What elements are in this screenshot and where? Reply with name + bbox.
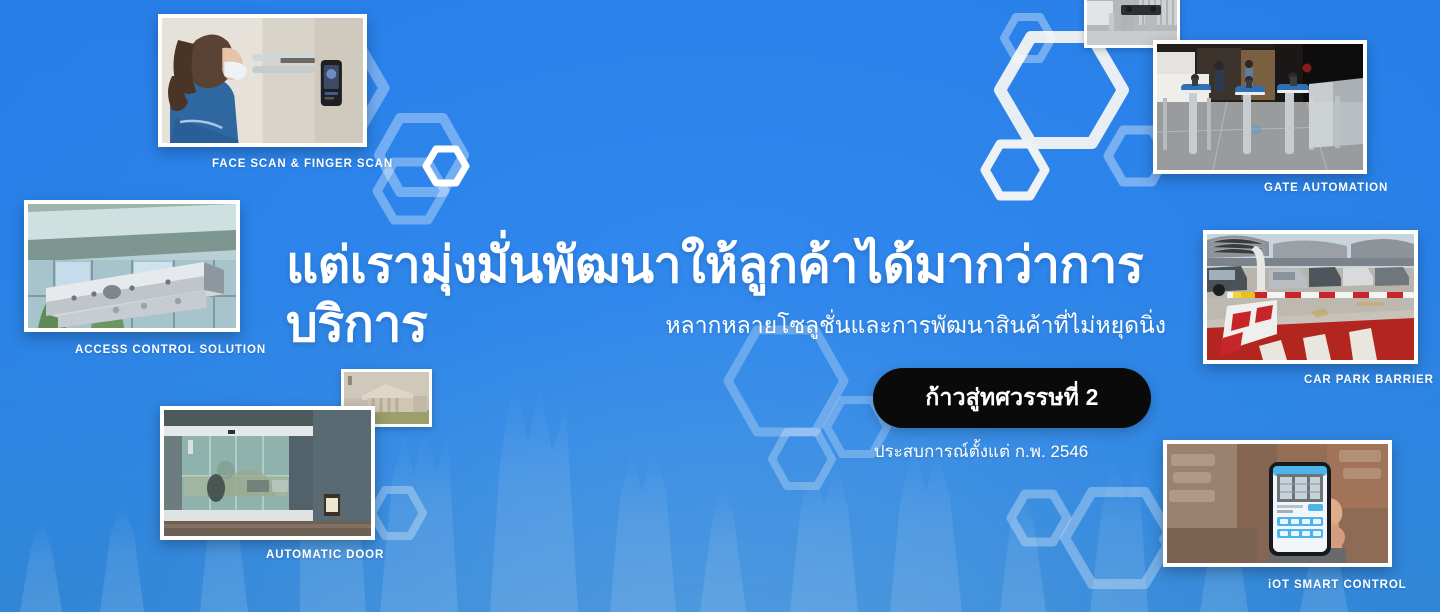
hero-banner: FACE SCAN & FINGER SCAN xyxy=(0,0,1440,612)
hexagon-outline-right-1-white xyxy=(1000,37,1123,143)
hexagon-outline-center-5 xyxy=(372,490,423,536)
photo-access-control xyxy=(28,204,236,328)
photo-gate-automation xyxy=(1157,44,1363,170)
caption-access-control: ACCESS CONTROL SOLUTION xyxy=(75,344,266,356)
photo-car-park-barrier xyxy=(1207,234,1414,360)
decade-badge-label: ก้าวสู่ทศวรรษที่ 2 xyxy=(925,380,1098,416)
photo-frame xyxy=(158,14,367,147)
card-car-park-barrier[interactable] xyxy=(1203,230,1418,364)
decade-badge[interactable]: ก้าวสู่ทศวรรษที่ 2 xyxy=(873,368,1151,428)
card-iot-smart-control[interactable] xyxy=(1163,440,1392,567)
photo-frame xyxy=(24,200,240,332)
photo-turnstile-thumb xyxy=(1087,0,1177,45)
card-automatic-door[interactable] xyxy=(160,406,375,540)
card-face-scan[interactable] xyxy=(158,14,367,147)
card-access-control[interactable] xyxy=(24,200,240,332)
hexagon-outline-right-6 xyxy=(1011,494,1067,542)
photo-iot-smart-control xyxy=(1167,444,1388,563)
hexagon-outline-right-5 xyxy=(1065,492,1172,584)
subheadline: หลากหลายโซลูชั่นและการพัฒนาสินค้าที่ไม่ห… xyxy=(286,310,1166,341)
photo-face-scan xyxy=(162,18,363,143)
caption-gate-automation: GATE AUTOMATION xyxy=(1264,182,1388,194)
photo-frame xyxy=(1203,230,1418,364)
hexagon-outline-right-3-white xyxy=(985,144,1045,196)
caption-face-scan: FACE SCAN & FINGER SCAN xyxy=(212,158,393,170)
photo-frame xyxy=(1163,440,1392,567)
photo-frame xyxy=(1153,40,1367,174)
photo-automatic-door xyxy=(164,410,371,536)
card-gate-automation[interactable] xyxy=(1153,40,1367,174)
experience-since-text: ประสบการณ์ตั้งแต่ ก.พ. 2546 xyxy=(811,438,1151,465)
caption-car-park-barrier: CAR PARK BARRIER xyxy=(1304,374,1434,386)
photo-frame xyxy=(160,406,375,540)
caption-automatic-door: AUTOMATIC DOOR xyxy=(266,549,384,561)
caption-iot-smart-control: iOT SMART CONTROL xyxy=(1268,579,1407,591)
